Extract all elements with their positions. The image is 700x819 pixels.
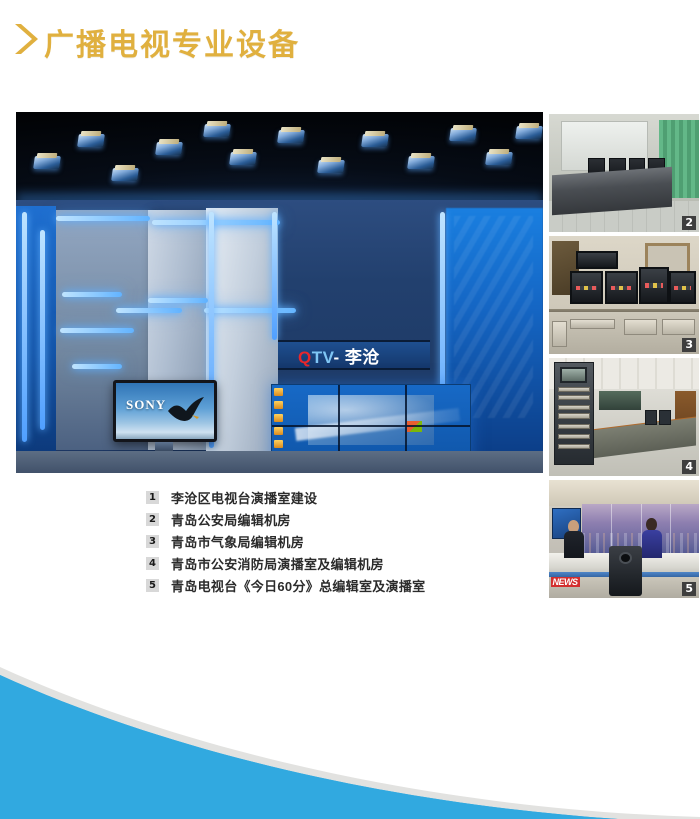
neon-strip xyxy=(116,308,182,313)
thumbnail-news-studio[interactable]: NEWS 5 xyxy=(549,480,699,598)
list-item-label: 青岛电视台《今日60分》总编辑室及演播室 xyxy=(171,576,425,595)
stage-light xyxy=(229,152,257,165)
thumb5-ceiling xyxy=(549,480,699,506)
thumbnail-badge: 4 xyxy=(682,460,696,474)
thumb3-crt-monitor xyxy=(605,271,638,304)
eagle-icon xyxy=(166,395,206,432)
thumb3-crt-monitor xyxy=(669,271,696,304)
thumb3-crt-monitor xyxy=(639,267,669,305)
list-item-label: 青岛市气象局编辑机房 xyxy=(171,532,304,551)
neon-strip-vertical xyxy=(272,212,277,340)
neon-strip xyxy=(72,364,122,369)
stage-light xyxy=(203,124,231,137)
thumb4-rack-unit xyxy=(558,405,590,410)
stage-light xyxy=(317,160,345,173)
stage-light xyxy=(277,130,305,143)
page-header: 广播电视专业设备 xyxy=(0,0,700,90)
thumb2-console-desk xyxy=(552,166,672,215)
thumb4-rack-unit xyxy=(558,387,590,392)
stage-light xyxy=(77,134,105,147)
camera-lens-icon xyxy=(619,552,632,564)
desktop-icon xyxy=(274,427,283,435)
list-item: 3 青岛市气象局编辑机房 xyxy=(146,531,566,551)
neon-strip xyxy=(60,328,134,333)
neon-strip xyxy=(204,308,296,313)
list-item: 4 青岛市公安消防局演播室及编辑机房 xyxy=(146,553,566,573)
list-item-number: 5 xyxy=(146,579,159,592)
list-item: 1 李沧区电视台演播室建设 xyxy=(146,487,566,507)
stage-light xyxy=(407,156,435,169)
thumb3-rack-unit xyxy=(552,321,567,347)
stage-light xyxy=(361,134,389,147)
thumbnail-crt-monitors[interactable]: 3 xyxy=(549,236,699,354)
stage-light xyxy=(155,142,183,155)
thumb3-rack-unit xyxy=(624,319,657,336)
thumb5-studio-camera xyxy=(609,546,642,596)
neon-strip xyxy=(62,292,122,297)
monitor-mount xyxy=(155,442,173,451)
thumb4-rack-unit xyxy=(558,395,590,400)
list-item-label: 李沧区电视台演播室建设 xyxy=(171,488,317,507)
list-item-number: 2 xyxy=(146,513,159,526)
qtv-logo-suffix: - 李沧 xyxy=(334,348,380,367)
thumb4-rack-unit xyxy=(558,444,590,449)
thumb3-rack-unit xyxy=(662,319,695,336)
qtv-logo-tv: TV xyxy=(312,348,334,367)
bottom-wave-decoration xyxy=(0,629,700,819)
desktop-icon xyxy=(274,440,283,448)
desktop-icon xyxy=(274,414,283,422)
studio-floor xyxy=(16,451,543,473)
page-root: 广播电视专业设备 xyxy=(0,0,700,819)
list-item-number: 1 xyxy=(146,491,159,504)
thumb4-monitor xyxy=(659,410,671,425)
chevron-right-icon xyxy=(12,22,38,56)
thumb5-anchor-male xyxy=(564,520,584,558)
qtv-backdrop-sign: QTV- 李沧 xyxy=(278,340,430,370)
caption-list: 1 李沧区电视台演播室建设 2 青岛公安局编辑机房 3 青岛市气象局编辑机房 4… xyxy=(146,487,566,597)
list-item-label: 青岛市公安消防局演播室及编辑机房 xyxy=(171,554,384,573)
thumbnail-control-room[interactable]: 4 xyxy=(549,358,699,476)
thumbnail-edit-suite[interactable]: 2 xyxy=(549,114,699,232)
desktop-wallpaper xyxy=(308,395,435,445)
thumb3-rack-unit xyxy=(570,319,615,330)
list-item-number: 3 xyxy=(146,535,159,548)
thumbnail-badge: 3 xyxy=(682,338,696,352)
thumb4-rack-unit xyxy=(558,413,590,418)
neon-strip-vertical xyxy=(22,212,27,442)
thumb4-rack-monitor xyxy=(560,367,587,383)
neon-strip xyxy=(148,298,208,303)
stage-light xyxy=(449,128,477,141)
anchor-body xyxy=(642,530,662,558)
thumb3-av-receiver xyxy=(576,251,618,269)
stage-light xyxy=(515,126,543,139)
list-item-number: 4 xyxy=(146,557,159,570)
thumb5-anchor-female xyxy=(642,518,662,558)
list-item: 2 青岛公安局编辑机房 xyxy=(146,509,566,529)
qtv-logo-q: Q xyxy=(298,348,312,367)
video-wall-seam xyxy=(272,425,470,427)
stage-light xyxy=(33,156,61,169)
thumb4-monitor xyxy=(645,410,657,425)
thumb4-window xyxy=(599,391,641,410)
desktop-icon xyxy=(274,388,283,396)
neon-strip xyxy=(152,220,280,225)
neon-strip xyxy=(56,216,150,221)
thumb4-equipment-rack xyxy=(554,362,595,466)
hero-studio-image: QTV- 李沧 SONY xyxy=(16,112,543,473)
thumb5-panel-seam xyxy=(670,504,671,557)
thumbnail-badge: 2 xyxy=(682,216,696,230)
sony-monitor: SONY xyxy=(113,380,217,442)
page-title: 广播电视专业设备 xyxy=(44,20,300,64)
desktop-icon xyxy=(274,401,283,409)
sony-monitor-screen: SONY xyxy=(116,383,214,439)
thumbnail-badge: 5 xyxy=(682,582,696,596)
stage-light xyxy=(111,168,139,181)
thumb3-crt-monitor xyxy=(570,271,603,304)
list-item: 5 青岛电视台《今日60分》总编辑室及演播室 xyxy=(146,575,566,595)
sony-brand-label: SONY xyxy=(126,397,166,413)
thumb4-rack-unit xyxy=(558,424,590,429)
stage-light xyxy=(485,152,513,165)
neon-strip-vertical xyxy=(40,230,45,430)
thumb4-rack-unit xyxy=(558,434,590,439)
anchor-body xyxy=(564,531,584,557)
list-item-label: 青岛公安局编辑机房 xyxy=(171,510,291,529)
